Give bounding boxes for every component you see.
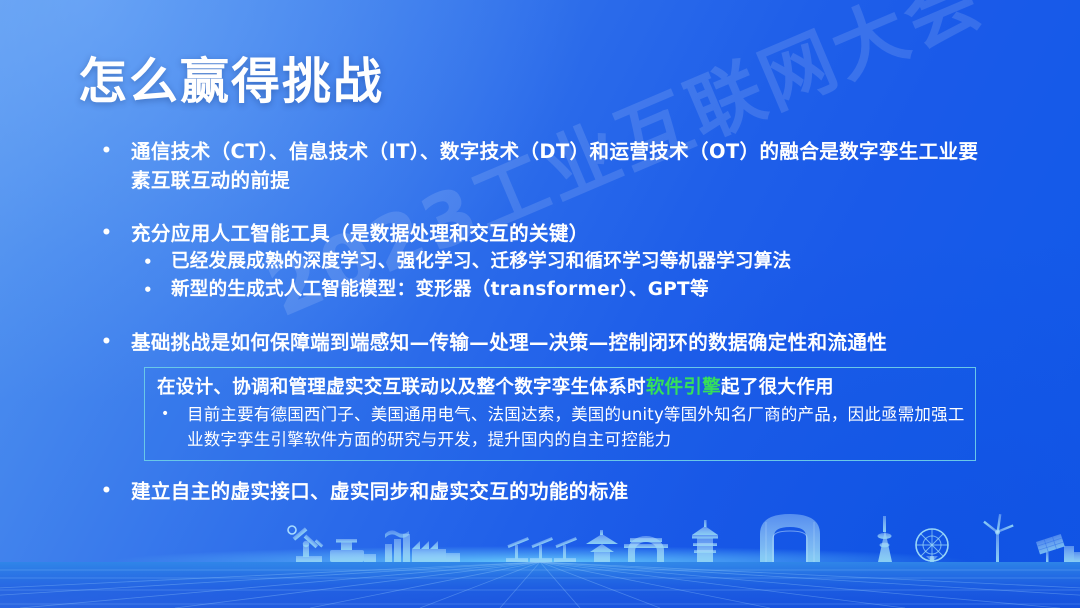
city-buildings-icon	[1064, 546, 1080, 562]
valve-icon	[330, 539, 376, 562]
callout-box: 在设计、协调和管理虚实交互联动以及整个数字孪生体系时软件引擎起了很大作用 • 目…	[144, 367, 976, 461]
bridge-arch-icon	[624, 536, 668, 562]
factory-icon	[385, 530, 460, 562]
spacer	[96, 461, 996, 477]
presentation-slide: 2023工业互联网大会 怎么赢得挑战 • 通信技术（CT）、信息技术（IT）、数…	[0, 0, 1080, 608]
ferris-wheel-icon	[916, 529, 948, 562]
oil-pumpjack-icon	[506, 537, 577, 562]
callout-heading-before: 在设计、协调和管理虚实交互联动以及整个数字孪生体系时	[157, 377, 646, 398]
spacer	[96, 304, 996, 328]
perspective-grid	[0, 562, 1080, 608]
wind-turbine-icon	[983, 514, 1013, 562]
bullet-level1: • 充分应用人工智能工具（是数据处理和交互的关键）	[96, 219, 996, 248]
bullet-level1-text: 基础挑战是如何保障端到端感知—传输—处理—决策—控制闭环的数据确定性和流通性	[131, 328, 996, 357]
slide-body: • 通信技术（CT）、信息技术（IT）、数字技术（DT）和运营技术（OT）的融合…	[96, 137, 996, 506]
bullet-level2-text: 已经发展成熟的深度学习、强化学习、迁移学习和循环学习等机器学习算法	[171, 248, 996, 276]
callout-heading: 在设计、协调和管理虚实交互联动以及整个数字孪生体系时软件引擎起了很大作用	[157, 374, 965, 401]
bullet-marker-icon: •	[96, 219, 131, 248]
bottom-skyline-graphic	[0, 512, 1080, 608]
bullet-marker-icon: •	[140, 276, 171, 304]
bullet-level1-text: 充分应用人工智能工具（是数据处理和交互的关键）	[131, 219, 996, 248]
bullet-marker-icon: •	[96, 328, 131, 357]
bullet-block-4: • 建立自主的虚实接口、虚实同步和虚实交互的功能的标准	[96, 477, 996, 506]
bullet-block-3: • 基础挑战是如何保障端到端感知—传输—处理—决策—控制闭环的数据确定性和流通性	[96, 328, 996, 357]
slide-title: 怎么赢得挑战	[78, 42, 384, 113]
bullet-marker-icon: •	[96, 137, 131, 166]
pavilion-icon	[586, 530, 618, 562]
tv-tower-icon	[878, 516, 893, 562]
callout-heading-highlight: 软件引擎	[646, 377, 721, 398]
bullet-level1: • 基础挑战是如何保障端到端感知—传输—处理—决策—控制闭环的数据确定性和流通性	[96, 328, 996, 357]
bullet-level2: • 新型的生成式人工智能模型：变形器（transformer）、GPT等	[140, 276, 996, 304]
callout-sub-bullet: • 目前主要有德国西门子、美国通用电气、法国达索，美国的unity等国外知名厂商…	[157, 402, 965, 452]
callout-sub-bullet-text: 目前主要有德国西门子、美国通用电气、法国达索，美国的unity等国外知名厂商的产…	[187, 402, 965, 452]
gate-of-the-orient-icon	[760, 514, 820, 562]
bullet-level2-text: 新型的生成式人工智能模型：变形器（transformer）、GPT等	[171, 276, 996, 304]
ground-plane	[0, 562, 1080, 608]
robotic-arm-icon	[288, 526, 323, 562]
bullet-marker-icon: •	[140, 248, 171, 276]
callout-heading-after: 起了很大作用	[721, 377, 834, 398]
bullet-level1-text: 通信技术（CT）、信息技术（IT）、数字技术（DT）和运营技术（OT）的融合是数…	[131, 137, 996, 195]
bullet-block-2: • 充分应用人工智能工具（是数据处理和交互的关键） • 已经发展成熟的深度学习、…	[96, 219, 996, 304]
bullet-marker-icon: •	[157, 402, 187, 427]
bullet-level2: • 已经发展成熟的深度学习、强化学习、迁移学习和循环学习等机器学习算法	[140, 248, 996, 276]
bullet-level1: • 建立自主的虚实接口、虚实同步和虚实交互的功能的标准	[96, 477, 996, 506]
bullet-level1-text: 建立自主的虚实接口、虚实同步和虚实交互的功能的标准	[131, 477, 996, 506]
bullet-level1: • 通信技术（CT）、信息技术（IT）、数字技术（DT）和运营技术（OT）的融合…	[96, 137, 996, 195]
solar-panel-icon	[1036, 534, 1065, 562]
bullet-marker-icon: •	[96, 477, 131, 506]
bullet-block-1: • 通信技术（CT）、信息技术（IT）、数字技术（DT）和运营技术（OT）的融合…	[96, 137, 996, 195]
spacer	[96, 195, 996, 219]
pagoda-icon	[692, 520, 718, 562]
horizon-glow	[110, 546, 970, 578]
